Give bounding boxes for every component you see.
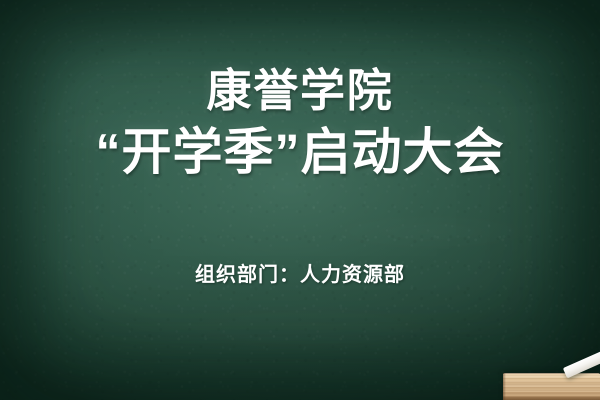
wood-grain-texture bbox=[503, 373, 600, 400]
subtitle-organizing-department: 组织部门：人力资源部 bbox=[195, 258, 405, 287]
chalk-tray-left-edge bbox=[503, 373, 506, 400]
title-line-2: “开学季”启动大会 bbox=[96, 124, 505, 180]
title-line-1: 康誉学院 bbox=[206, 66, 393, 116]
chalk-tray bbox=[503, 373, 600, 400]
chalkboard-slide: 康誉学院 “开学季”启动大会 组织部门：人力资源部 bbox=[0, 0, 600, 400]
slide-content: 康誉学院 “开学季”启动大会 组织部门：人力资源部 bbox=[0, 0, 600, 400]
